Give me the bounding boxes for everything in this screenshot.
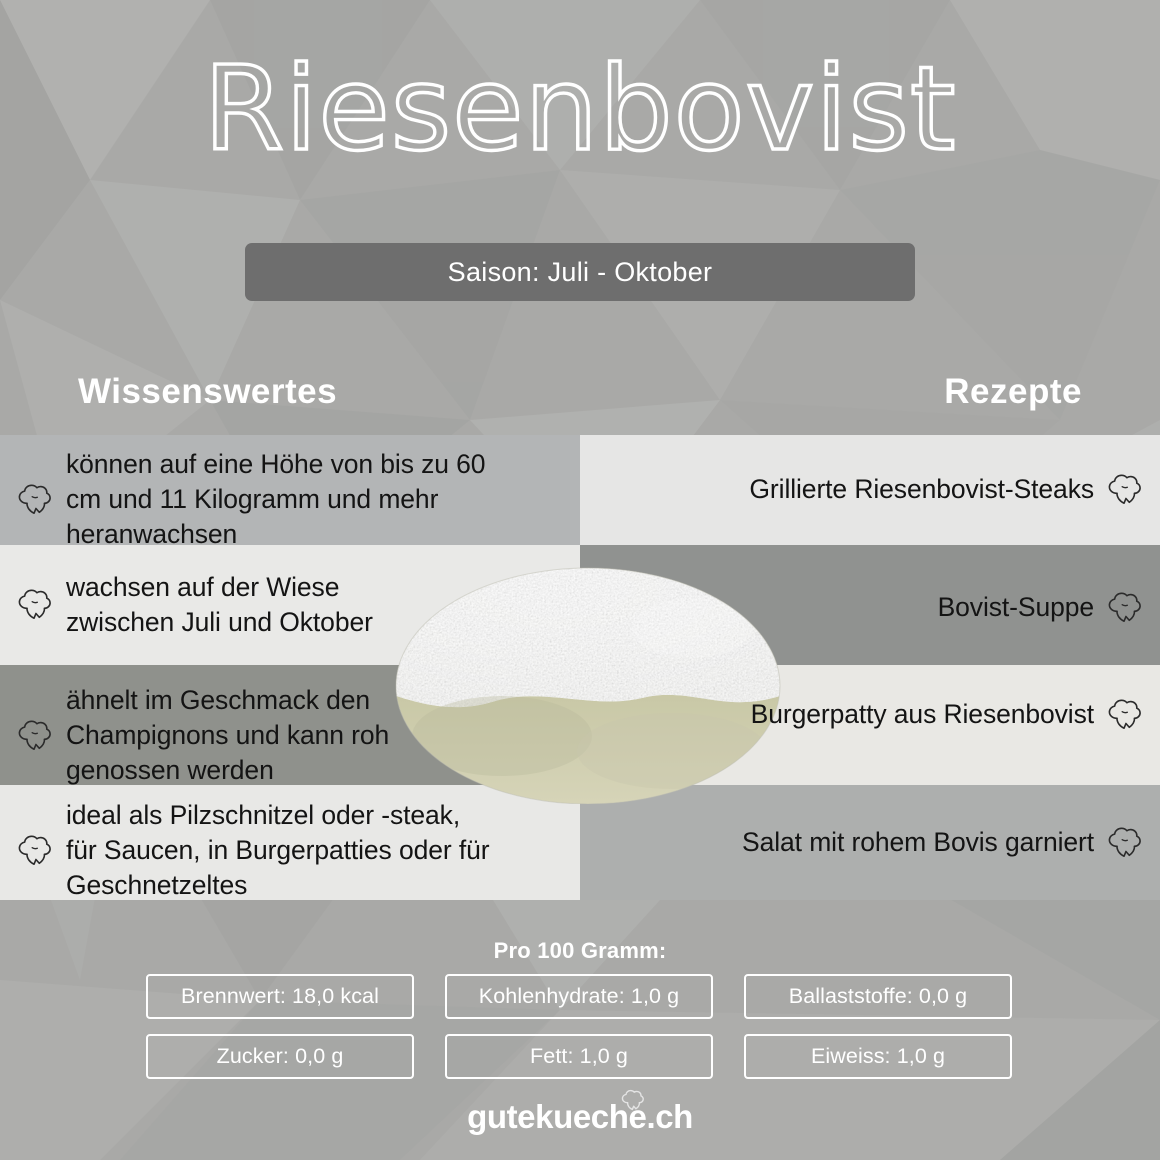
fact-text: wachsen auf der Wiese zwischen Juli und … xyxy=(66,570,416,640)
fact-text: ideal als Pilzschnitzel oder -steak, für… xyxy=(66,798,496,904)
nutrition-heading: Pro 100 Gramm: xyxy=(0,938,1160,964)
season-banner-label: Saison: Juli - Oktober xyxy=(448,257,713,288)
recipe-text: Salat mit rohem Bovis garniert xyxy=(742,825,1094,860)
recipe-item[interactable]: Grillierte Riesenbovist-Steaks xyxy=(664,472,1144,507)
chef-hat-icon xyxy=(620,1089,646,1112)
recipe-text: Bovist-Suppe xyxy=(938,590,1094,625)
nutrition-item-fett: Fett: 1,0 g xyxy=(445,1034,713,1079)
recipe-text: Grillierte Riesenbovist-Steaks xyxy=(749,472,1094,507)
nutrition-item-eiweiss: Eiweiss: 1,0 g xyxy=(744,1034,1012,1079)
nutrition-grid: Brennwert: 18,0 kcal Kohlenhydrate: 1,0 … xyxy=(146,974,1014,1079)
fact-text: können auf eine Höhe von bis zu 60 cm un… xyxy=(66,447,496,553)
chef-hat-icon xyxy=(16,483,54,517)
recipe-text: Burgerpatty aus Riesenbovist xyxy=(751,697,1094,732)
chef-hat-icon xyxy=(1106,473,1144,507)
recipe-item[interactable]: Burgerpatty aus Riesenbovist xyxy=(664,697,1144,732)
nutrition-item-zucker: Zucker: 0,0 g xyxy=(146,1034,414,1079)
chef-hat-icon xyxy=(1106,591,1144,625)
recipe-item[interactable]: Salat mit rohem Bovis garniert xyxy=(664,825,1144,860)
fact-item: ähnelt im Geschmack den Champignons und … xyxy=(16,683,416,789)
fact-item: können auf eine Höhe von bis zu 60 cm un… xyxy=(16,447,496,553)
fact-text: ähnelt im Geschmack den Champignons und … xyxy=(66,683,416,789)
chef-hat-icon xyxy=(1106,698,1144,732)
recipe-item[interactable]: Bovist-Suppe xyxy=(664,590,1144,625)
nutrition-item-ballaststoffe: Ballaststoffe: 0,0 g xyxy=(744,974,1012,1019)
fact-item: ideal als Pilzschnitzel oder -steak, für… xyxy=(16,798,496,904)
section-heading-wissenswertes: Wissenswertes xyxy=(78,372,337,412)
site-logo[interactable]: gutekueche.ch xyxy=(467,1098,693,1136)
fact-item: wachsen auf der Wiese zwischen Juli und … xyxy=(16,570,416,640)
nutrition-item-brennwert: Brennwert: 18,0 kcal xyxy=(146,974,414,1019)
chef-hat-icon xyxy=(16,588,54,622)
season-banner: Saison: Juli - Oktober xyxy=(245,243,915,301)
chef-hat-icon xyxy=(16,719,54,753)
chef-hat-icon xyxy=(1106,826,1144,860)
site-logo-text: gutekueche.ch xyxy=(467,1098,693,1135)
title-container: Riesenbovist xyxy=(0,46,1160,174)
section-heading-rezepte: Rezepte xyxy=(944,372,1082,412)
nutrition-item-kohlenhydrate: Kohlenhydrate: 1,0 g xyxy=(445,974,713,1019)
footer: gutekueche.ch xyxy=(0,1098,1160,1136)
page-title: Riesenbovist xyxy=(204,46,957,174)
chef-hat-icon xyxy=(16,834,54,868)
infographic-poster: Riesenbovist Saison: Juli - Oktober Wiss… xyxy=(0,0,1160,1160)
